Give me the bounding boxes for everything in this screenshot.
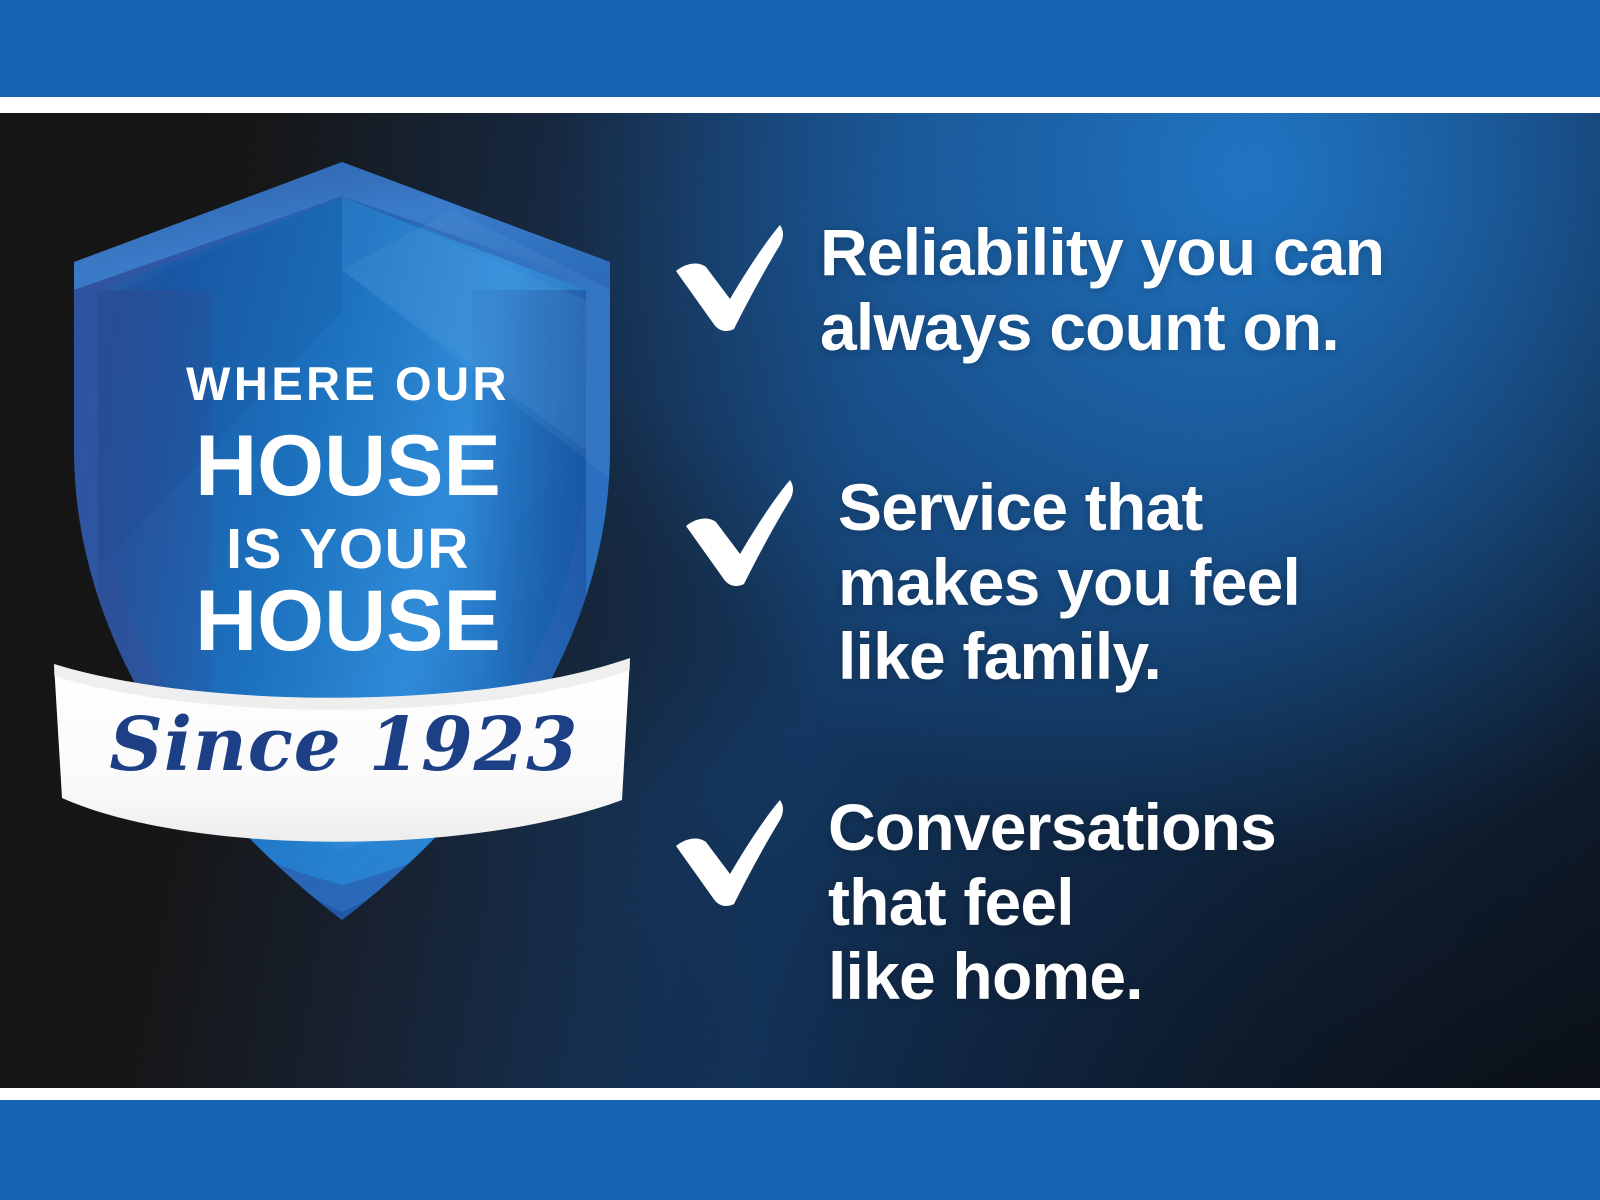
emblem-badge: WHERE OUR HOUSE IS YOUR HOUSE Since 1923 [52,150,632,950]
checkmark-icon [668,217,790,335]
checkmark-icon [668,792,790,910]
shield-wordmark: WHERE OUR HOUSE IS YOUR HOUSE [186,357,510,669]
list-item-text: Reliability you can always count on. [820,215,1384,364]
ribbon-text: Since 1923 [109,702,578,788]
shield-line-1: WHERE OUR [186,357,510,410]
checkmark-icon [678,472,800,590]
shield-line-4: HOUSE [195,573,501,669]
shield-line-2: HOUSE [195,418,501,514]
list-item-text: Conversations that feel like home. [828,790,1276,1014]
promo-graphic: WHERE OUR HOUSE IS YOUR HOUSE Since 1923… [0,0,1600,1200]
list-item-text: Service that makes you feel like family. [838,470,1300,694]
list-item: Service that makes you feel like family. [678,468,1300,694]
bottom-brand-bar [0,1100,1600,1200]
list-item: Conversations that feel like home. [668,788,1276,1014]
top-brand-bar [0,0,1600,97]
shield-line-3: IS YOUR [226,517,470,581]
benefits-list: Reliability you can always count on. Ser… [660,113,1540,1088]
list-item: Reliability you can always count on. [668,213,1384,364]
